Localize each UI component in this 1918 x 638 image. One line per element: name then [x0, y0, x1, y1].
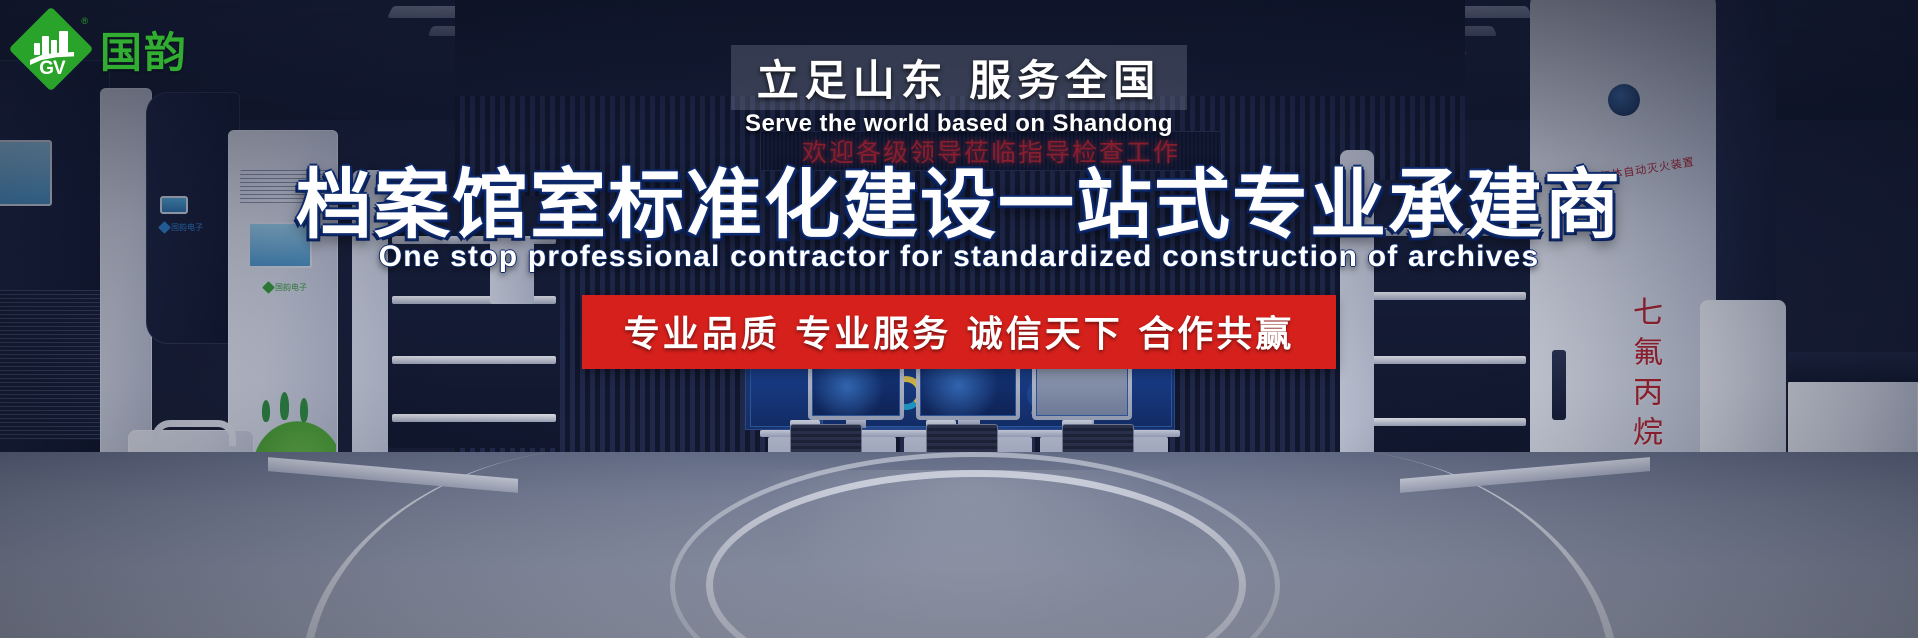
eyebrow-en: Serve the world based on Shandong: [0, 110, 1918, 138]
brand-diamond-icon: [262, 281, 275, 294]
shelf: [392, 414, 556, 422]
headline-cn: 档案馆室标准化建设一站式专业承建商: [0, 143, 1918, 253]
shelf: [1364, 418, 1526, 426]
tree-icon: [262, 400, 270, 422]
headline-en: One stop professional contractor for sta…: [0, 240, 1918, 274]
slogan-row: 专业品质 专业服务 诚信天下 合作共赢: [0, 295, 1918, 369]
tree-icon: [280, 392, 289, 420]
brand-mark-ac: 国韵电子: [264, 282, 307, 293]
eyebrow-row: 立足山东 服务全国: [0, 45, 1918, 110]
registered-trademark-icon: ®: [81, 16, 88, 26]
eyebrow-cn: 立足山东 服务全国: [731, 45, 1188, 110]
tree-icon: [300, 398, 308, 422]
monitor-screen: [1036, 362, 1128, 416]
brand-mark-text: 国韵电子: [275, 282, 307, 293]
hero-banner: 欢迎各级领导莅临指导检查工作 单位资产维护排名 档案借阅 资料数据统计 档案馆智…: [0, 0, 1918, 638]
monitor-screen: [812, 362, 900, 416]
slogan-banner: 专业品质 专业服务 诚信天下 合作共赢: [582, 295, 1337, 369]
dehumidifier-handle: [152, 420, 236, 446]
